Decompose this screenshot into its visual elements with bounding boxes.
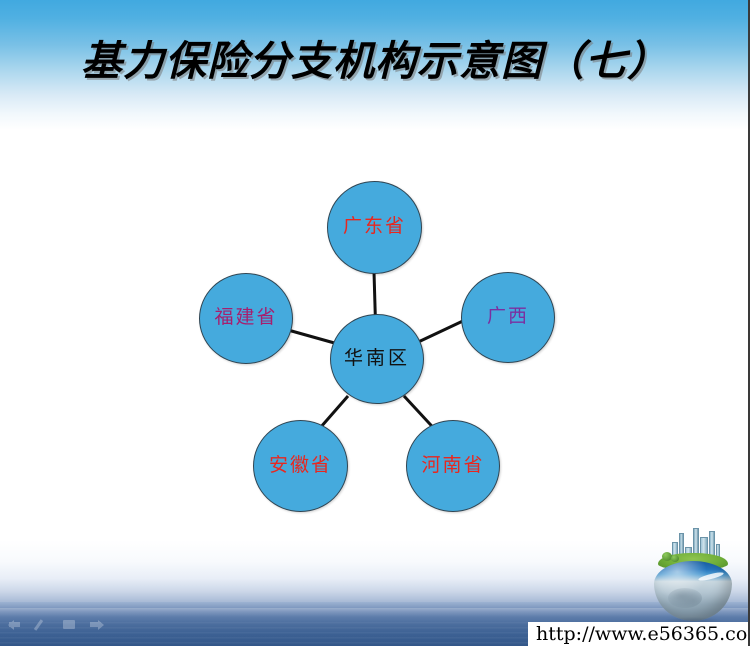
node-guangdong-label: 广东省 xyxy=(343,217,406,236)
watermark-url-box: http://www.e56365.com xyxy=(528,622,750,646)
slide-title: 基力保险分支机构示意图（七） xyxy=(0,27,750,87)
node-guangdong[interactable]: 广东省 xyxy=(327,181,422,274)
tree-icon xyxy=(671,555,679,562)
pen-tool-icon[interactable] xyxy=(35,618,50,631)
node-fujian[interactable]: 福建省 xyxy=(199,273,293,364)
slideshow-nav-controls[interactable] xyxy=(8,618,104,631)
watermark-url-text: http://www.e56365.com xyxy=(536,623,750,645)
node-guangxi-label: 广西 xyxy=(487,307,529,326)
globe-icon xyxy=(654,561,732,621)
slide-menu-icon[interactable] xyxy=(62,618,77,631)
next-slide-icon[interactable] xyxy=(89,618,104,631)
node-guangxi[interactable]: 广西 xyxy=(461,272,555,363)
node-anhui-label: 安徽省 xyxy=(269,456,332,475)
node-anhui[interactable]: 安徽省 xyxy=(253,420,348,512)
previous-slide-icon[interactable] xyxy=(8,618,23,631)
green-earth-city-globe-icon xyxy=(650,525,736,625)
node-center-label: 华南区 xyxy=(344,349,410,368)
presentation-slide: 基力保险分支机构示意图（七） 广东省 广西 河南省 安徽省 福建省 华南区 xyxy=(0,0,750,646)
node-fujian-label: 福建省 xyxy=(214,308,277,327)
node-center-huanan[interactable]: 华南区 xyxy=(330,314,424,404)
node-henan[interactable]: 河南省 xyxy=(406,420,500,512)
horizon-haze-background xyxy=(0,540,748,602)
node-henan-label: 河南省 xyxy=(421,456,484,475)
